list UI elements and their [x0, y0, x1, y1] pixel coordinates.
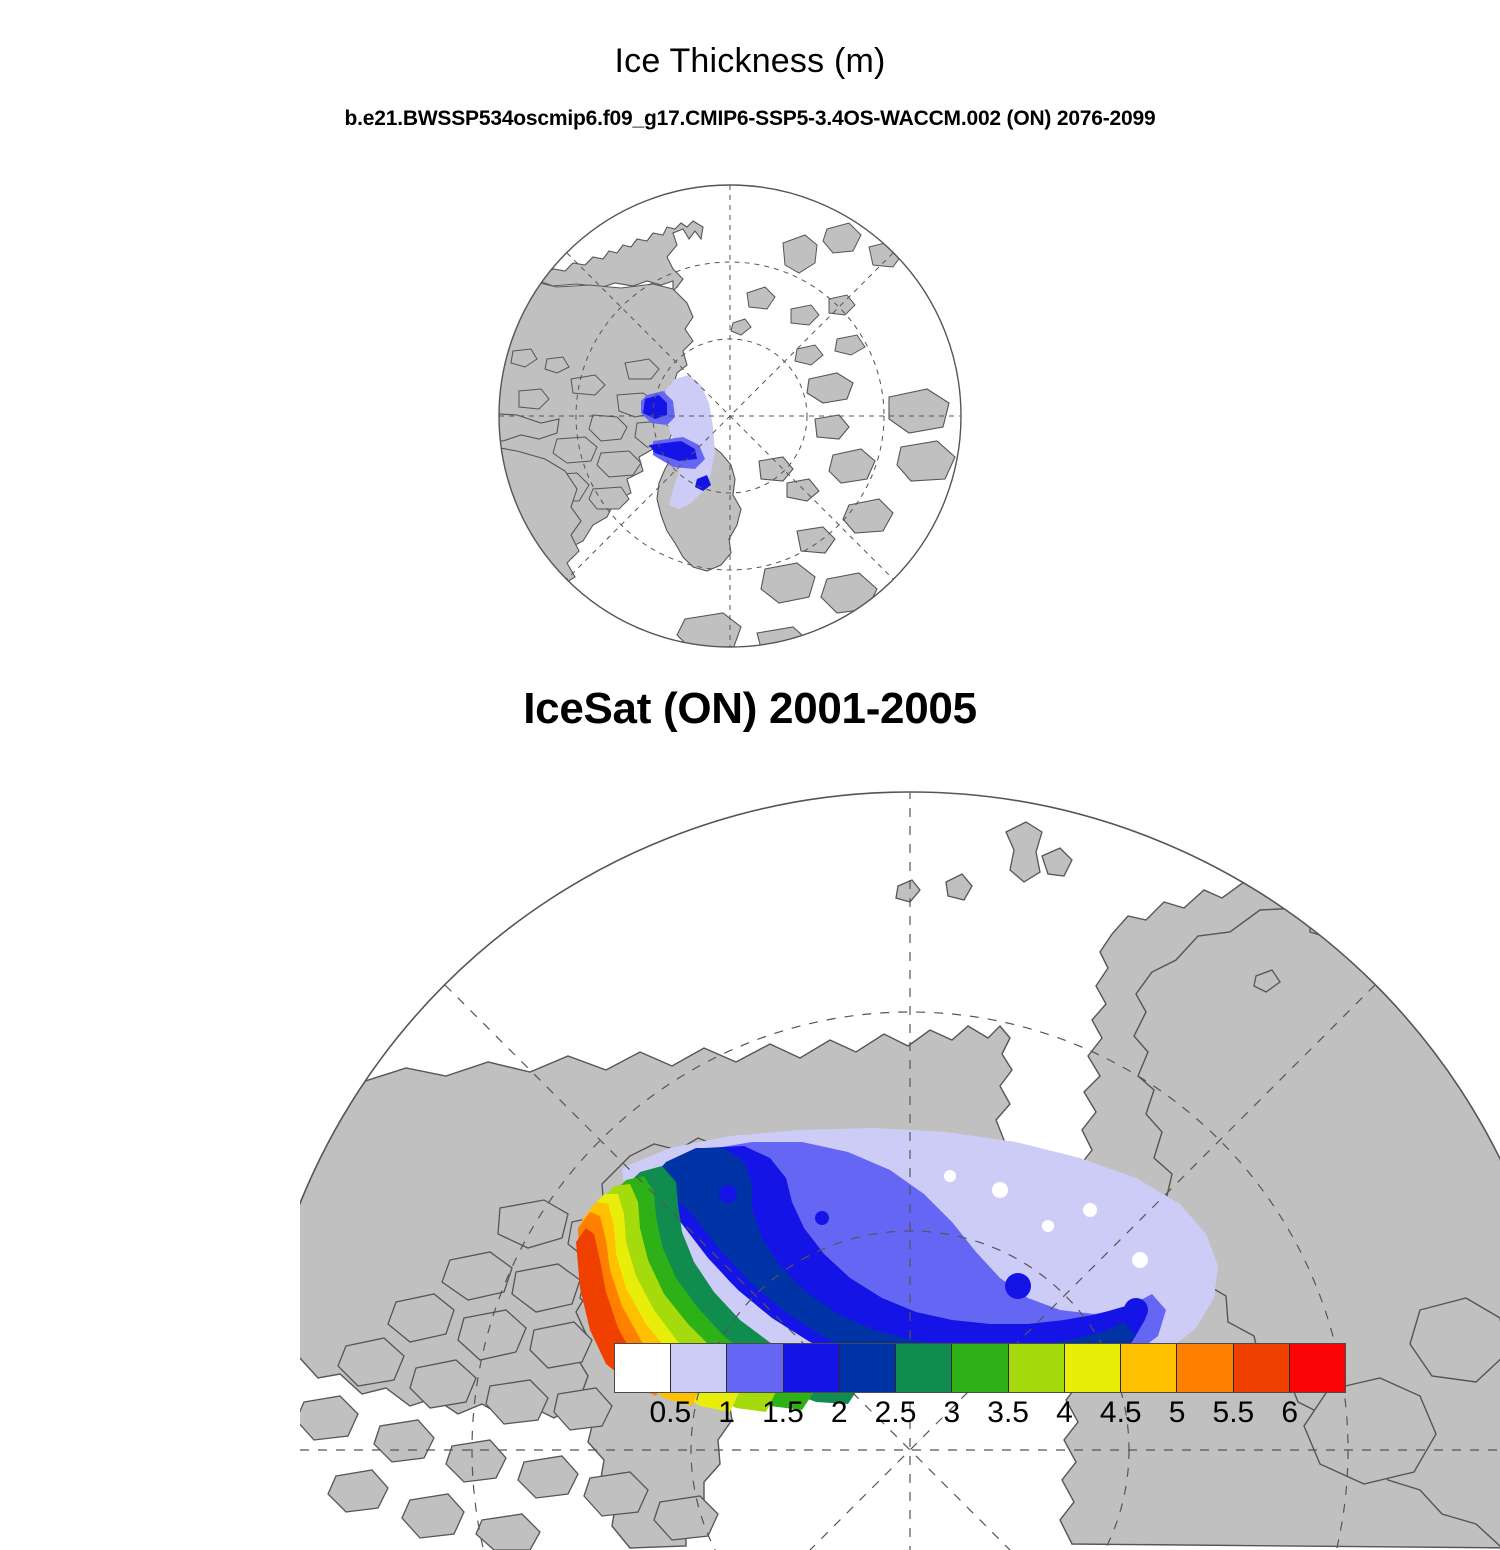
colorbar-segment-4[interactable] [840, 1344, 896, 1392]
colorbar-tick-3.5: 3.5 [987, 1396, 1029, 1430]
colorbar-tick-3: 3 [944, 1396, 961, 1430]
colorbar-tick-6: 6 [1281, 1396, 1298, 1430]
colorbar-tick-2.5: 2.5 [875, 1396, 917, 1430]
colorbar-tick-labels: 0.511.522.533.544.555.56 [614, 1396, 1346, 1436]
colorbar-tick-4.5: 4.5 [1100, 1396, 1142, 1430]
colorbar-tick-5.5: 5.5 [1213, 1396, 1255, 1430]
colorbar-tick-4: 4 [1056, 1396, 1073, 1430]
colorbar[interactable] [614, 1343, 1346, 1393]
model-map-svg [497, 183, 963, 649]
colorbar-segment-9[interactable] [1121, 1344, 1177, 1392]
icesat-panel-label: IceSat (ON) 2001-2005 [0, 684, 1500, 734]
colorbar-segment-8[interactable] [1065, 1344, 1121, 1392]
figure-subtitle: b.e21.BWSSP534oscmip6.f09_g17.CMIP6-SSP5… [0, 107, 1500, 131]
colorbar-tick-5: 5 [1169, 1396, 1186, 1430]
colorbar-segment-10[interactable] [1177, 1344, 1233, 1392]
colorbar-segment-5[interactable] [896, 1344, 952, 1392]
colorbar-tick-1: 1 [718, 1396, 735, 1430]
colorbar-tick-2: 2 [831, 1396, 848, 1430]
icesat-observation-map [300, 790, 1500, 1550]
colorbar-segment-7[interactable] [1009, 1344, 1065, 1392]
colorbar-segment-0[interactable] [615, 1344, 671, 1392]
colorbar-segment-2[interactable] [727, 1344, 783, 1392]
colorbar-segment-12[interactable] [1290, 1344, 1345, 1392]
colorbar-segment-6[interactable] [952, 1344, 1008, 1392]
colorbar-segment-1[interactable] [671, 1344, 727, 1392]
model-projection-map [497, 183, 963, 649]
colorbar-segment-3[interactable] [784, 1344, 840, 1392]
colorbar-tick-0.5: 0.5 [649, 1396, 691, 1430]
icesat-map-svg [300, 790, 1500, 1550]
page-title: Ice Thickness (m) [0, 42, 1500, 81]
icesat-map-content [300, 790, 1500, 1550]
colorbar-segment-11[interactable] [1234, 1344, 1290, 1392]
colorbar-tick-1.5: 1.5 [762, 1396, 804, 1430]
